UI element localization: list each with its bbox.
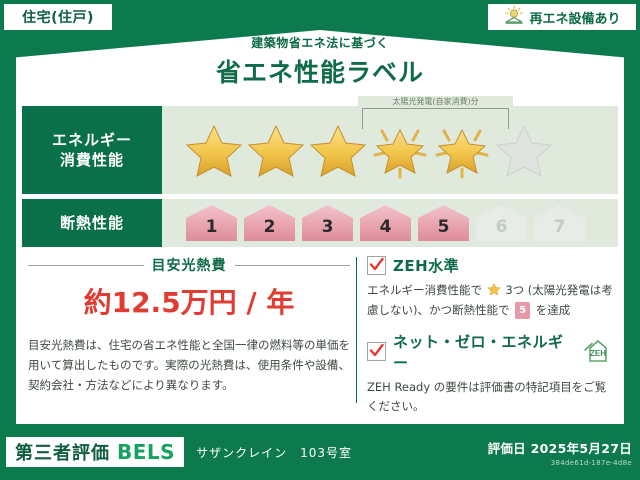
insulation-label: 断熱性能 [60,213,124,233]
zeh-standard-body-post: を達成 [536,303,571,317]
bels-jp-label: 第三者評価 [15,439,110,465]
rule-left [28,265,144,266]
insulation-scale: 1 2 3 4 5 [162,203,587,243]
zeh-standard-body-pre: エネルギー消費性能で [367,283,482,297]
solar-bracket-label: 太陽光発電(自家消費)分 [358,96,513,107]
evaluation-info: 評価日 2025年5月27日 384de61d-187e-4d8e [488,438,632,467]
section-divider [356,257,357,403]
title-subtitle: 建築物省エネ法に基づく [0,34,640,51]
housing-type-label: 住宅(住戸) [22,7,94,27]
energy-label-line1: エネルギー [52,130,132,150]
zeh-section: ZEH水準 エネルギー消費性能で 3つ (太陽光発電は考慮しない)、かつ断熱性能… [367,255,618,405]
bels-badge: 第三者評価 BELS [6,437,184,467]
solar-bracket [362,108,509,129]
inline-star-icon [487,282,501,296]
insulation-level-6-value: 6 [474,217,529,237]
title-block: 建築物省エネ法に基づく 省エネ性能ラベル [0,34,640,89]
energy-performance-label-box: エネルギー 消費性能 [22,106,162,194]
renewable-equipment-label: 再エネ設備あり [529,8,620,27]
utility-cost-heading: 目安光熱費 [28,255,350,275]
svg-text:ZEH: ZEH [590,349,606,358]
insulation-level-7-value: 7 [532,217,587,237]
zeh-netzero-block: ネット・ゼロ・エネルギー ZEH ZEH Ready の要件は評価書の特記項目を… [367,331,614,418]
star-icon-6-empty [494,121,554,179]
zeh-netzero-body: ZEH Ready の要件は評価書の特記項目をご覧ください。 [367,378,614,418]
insulation-level-1-value: 1 [184,217,239,237]
insulation-performance-label-box: 断熱性能 [22,199,162,247]
insulation-rating-panel: 1 2 3 4 5 [162,199,618,247]
zeh-netzero-heading: ネット・ゼロ・エネルギー ZEH [367,331,614,373]
energy-label-line2: 消費性能 [60,150,124,170]
insulation-level-5: 5 [416,203,471,243]
star-icon-4-solar [370,121,430,179]
housing-type-badge: 住宅(住戸) [4,4,112,30]
zeh-netzero-title: ネット・ゼロ・エネルギー [393,331,569,373]
zeh-house-logo-icon: ZEH [580,337,614,367]
sun-solar-icon [503,5,525,29]
evaluation-id: 384de61d-187e-4d8e [488,459,632,467]
star-icon-5-solar [432,121,492,179]
label-card: エネルギー 消費性能 太陽光発電(自家消費)分 [16,100,624,424]
utility-cost-heading-label: 目安光熱費 [152,255,227,275]
insulation-level-3: 3 [300,203,355,243]
energy-performance-row: エネルギー 消費性能 太陽光発電(自家消費)分 [22,106,618,194]
page-title: 省エネ性能ラベル [0,53,640,89]
lower-section: 目安光熱費 約12.5万円 / 年 目安光熱費は、住宅の省エネ性能と全国一律の燃… [22,255,618,405]
insulation-level-3-value: 3 [300,217,355,237]
star-rating [162,121,554,179]
insulation-level-1: 1 [184,203,239,243]
energy-rating-panel: 太陽光発電(自家消費)分 [162,106,618,194]
zeh-standard-title: ZEH水準 [393,255,459,276]
utility-cost-value: 約12.5万円 / 年 [28,281,350,321]
insulation-level-4: 4 [358,203,413,243]
building-name: サザンクレイン 103号室 [196,444,352,461]
zeh-standard-body: エネルギー消費性能で 3つ (太陽光発電は考慮しない)、かつ断熱性能で 5 を達… [367,281,614,321]
checkbox-checked-icon [367,256,386,275]
evaluation-date: 評価日 2025年5月27日 [488,438,632,457]
star-icon-2 [246,121,306,179]
insulation-level-2-value: 2 [242,217,297,237]
rule-right [235,265,351,266]
utility-cost-section: 目安光熱費 約12.5万円 / 年 目安光熱費は、住宅の省エネ性能と全国一律の燃… [22,255,356,405]
footer-bar: 第三者評価 BELS サザンクレイン 103号室 評価日 2025年5月27日 … [0,424,640,480]
insulation-level-4-value: 4 [358,217,413,237]
utility-cost-note: 目安光熱費は、住宅の省エネ性能と全国一律の燃料等の単価を用いて算出したものです。… [28,335,350,395]
checkbox-checked-icon-2 [367,342,386,361]
star-icon-3 [308,121,368,179]
star-icon-1 [184,121,244,179]
insulation-level-6: 6 [474,203,529,243]
insulation-level-5-value: 5 [416,217,471,237]
zeh-standard-level-badge: 5 [515,302,530,319]
energy-performance-label: 住宅(住戸) 再エネ設備あり 建築物省エネ法に基づく 省エネ性能ラベル [0,0,640,480]
bels-en-label: BELS [117,440,175,464]
zeh-standard-heading: ZEH水準 [367,255,614,276]
insulation-performance-row: 断熱性能 1 2 3 [22,199,618,247]
insulation-level-2: 2 [242,203,297,243]
zeh-standard-block: ZEH水準 エネルギー消費性能で 3つ (太陽光発電は考慮しない)、かつ断熱性能… [367,255,614,321]
renewable-equipment-badge: 再エネ設備あり [488,4,636,30]
insulation-level-7: 7 [532,203,587,243]
